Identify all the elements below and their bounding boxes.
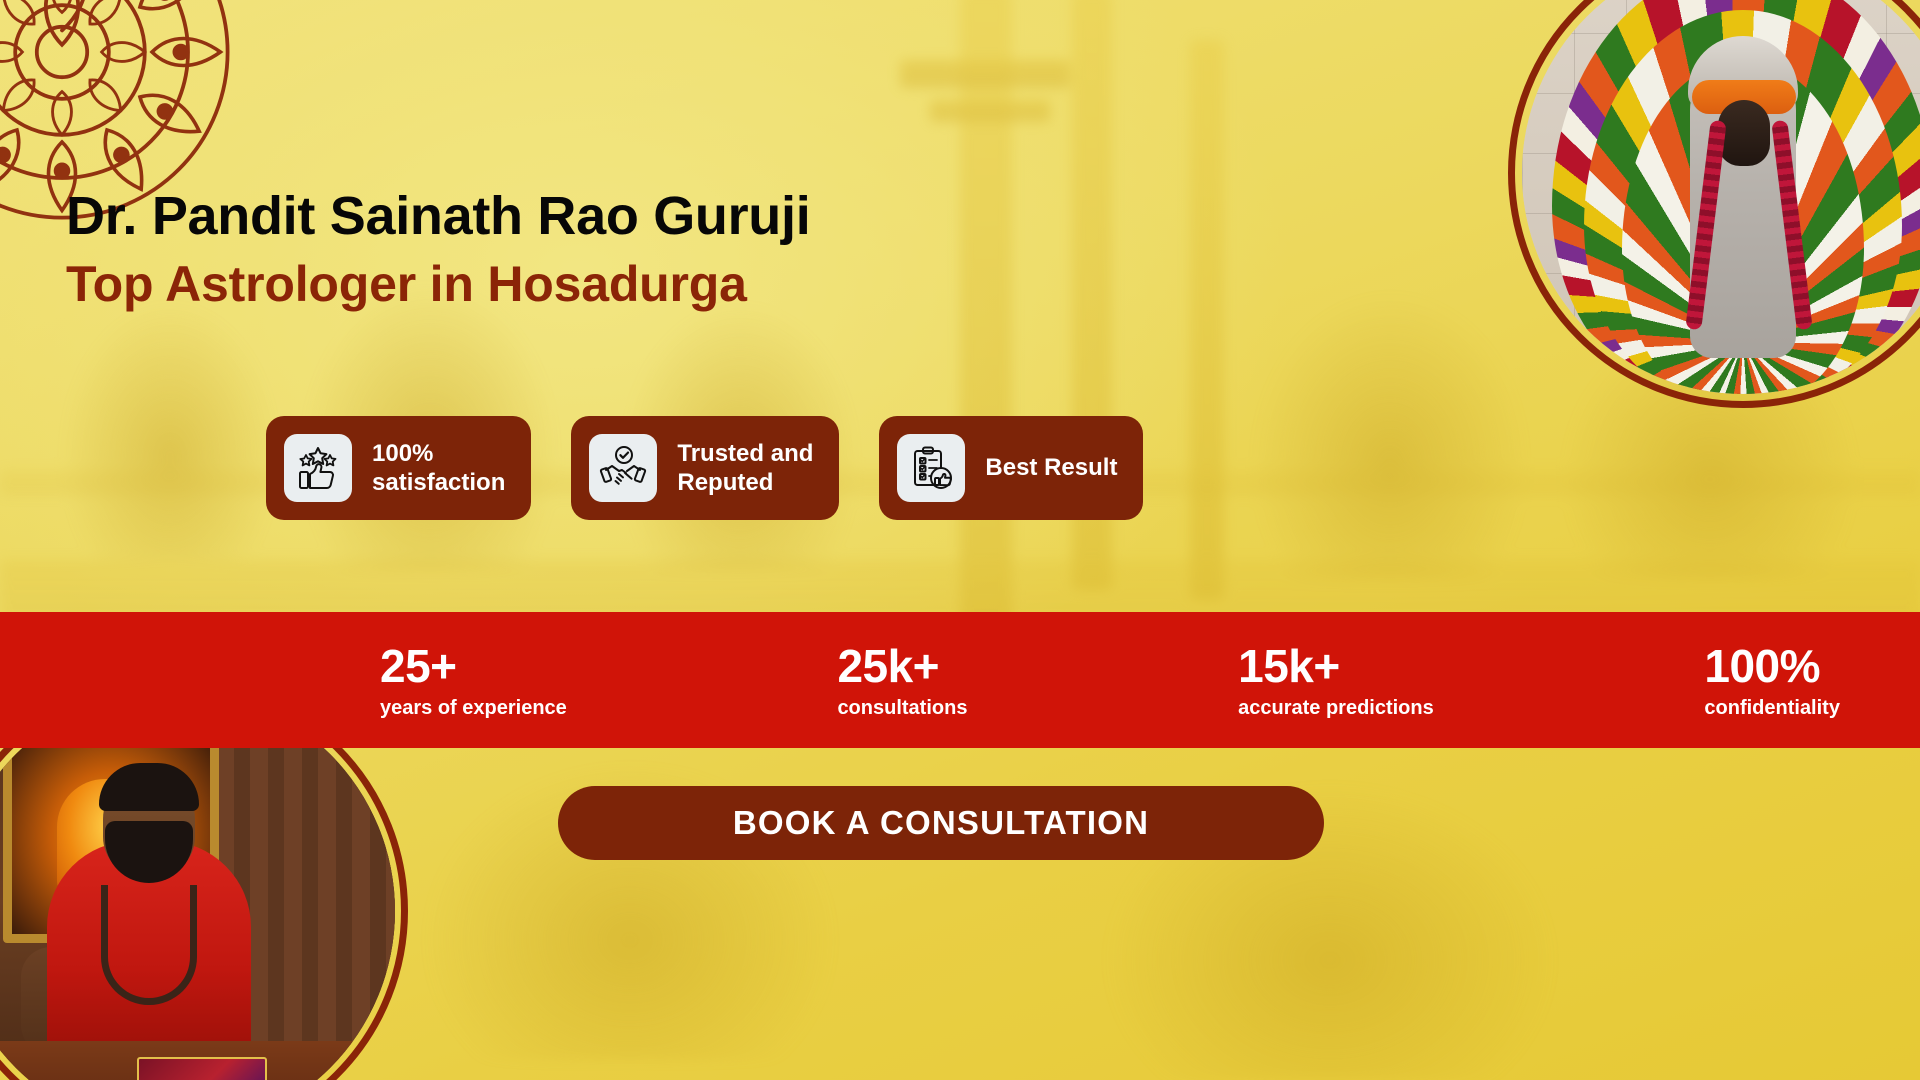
stat-consultations: 25k+ consultations <box>837 643 967 718</box>
stat-value: 25+ <box>380 643 567 689</box>
feature-badge-trusted[interactable]: Trusted and Reputed <box>571 416 839 520</box>
feature-label: 100% satisfaction <box>372 439 505 498</box>
title-block: Dr. Pandit Sainath Rao Guruji Top Astrol… <box>66 188 810 312</box>
thumbs-up-stars-icon <box>284 434 352 502</box>
feature-label: Trusted and Reputed <box>677 439 813 498</box>
stat-value: 25k+ <box>837 643 967 689</box>
feature-label: Best Result <box>985 453 1117 482</box>
stat-value: 100% <box>1704 643 1840 689</box>
feature-badge-best-result[interactable]: Best Result <box>879 416 1143 520</box>
stat-label: accurate predictions <box>1238 698 1434 718</box>
stat-label: years of experience <box>380 698 567 718</box>
stat-label: consultations <box>837 698 967 718</box>
stat-label: confidentiality <box>1704 698 1840 718</box>
stat-years-of-experience: 25+ years of experience <box>380 643 567 718</box>
feature-badge-list: 100% satisfaction Trusted and Reputed <box>266 416 1143 520</box>
hero-banner: Dr. Pandit Sainath Rao Guruji Top Astrol… <box>0 0 1920 1080</box>
stat-confidentiality: 100% confidentiality <box>1704 643 1840 718</box>
handshake-check-icon <box>589 434 657 502</box>
stat-value: 15k+ <box>1238 643 1434 689</box>
clipboard-thumbs-up-icon <box>897 434 965 502</box>
page-subtitle: Top Astrologer in Hosadurga <box>66 257 810 312</box>
feature-badge-satisfaction[interactable]: 100% satisfaction <box>266 416 531 520</box>
stats-bar: 25+ years of experience 25k+ consultatio… <box>0 612 1920 748</box>
deity-image-circle <box>1508 0 1920 408</box>
page-title: Dr. Pandit Sainath Rao Guruji <box>66 188 810 245</box>
stat-accurate-predictions: 15k+ accurate predictions <box>1238 643 1434 718</box>
book-a-consultation-button[interactable]: BOOK A CONSULTATION <box>558 786 1324 860</box>
